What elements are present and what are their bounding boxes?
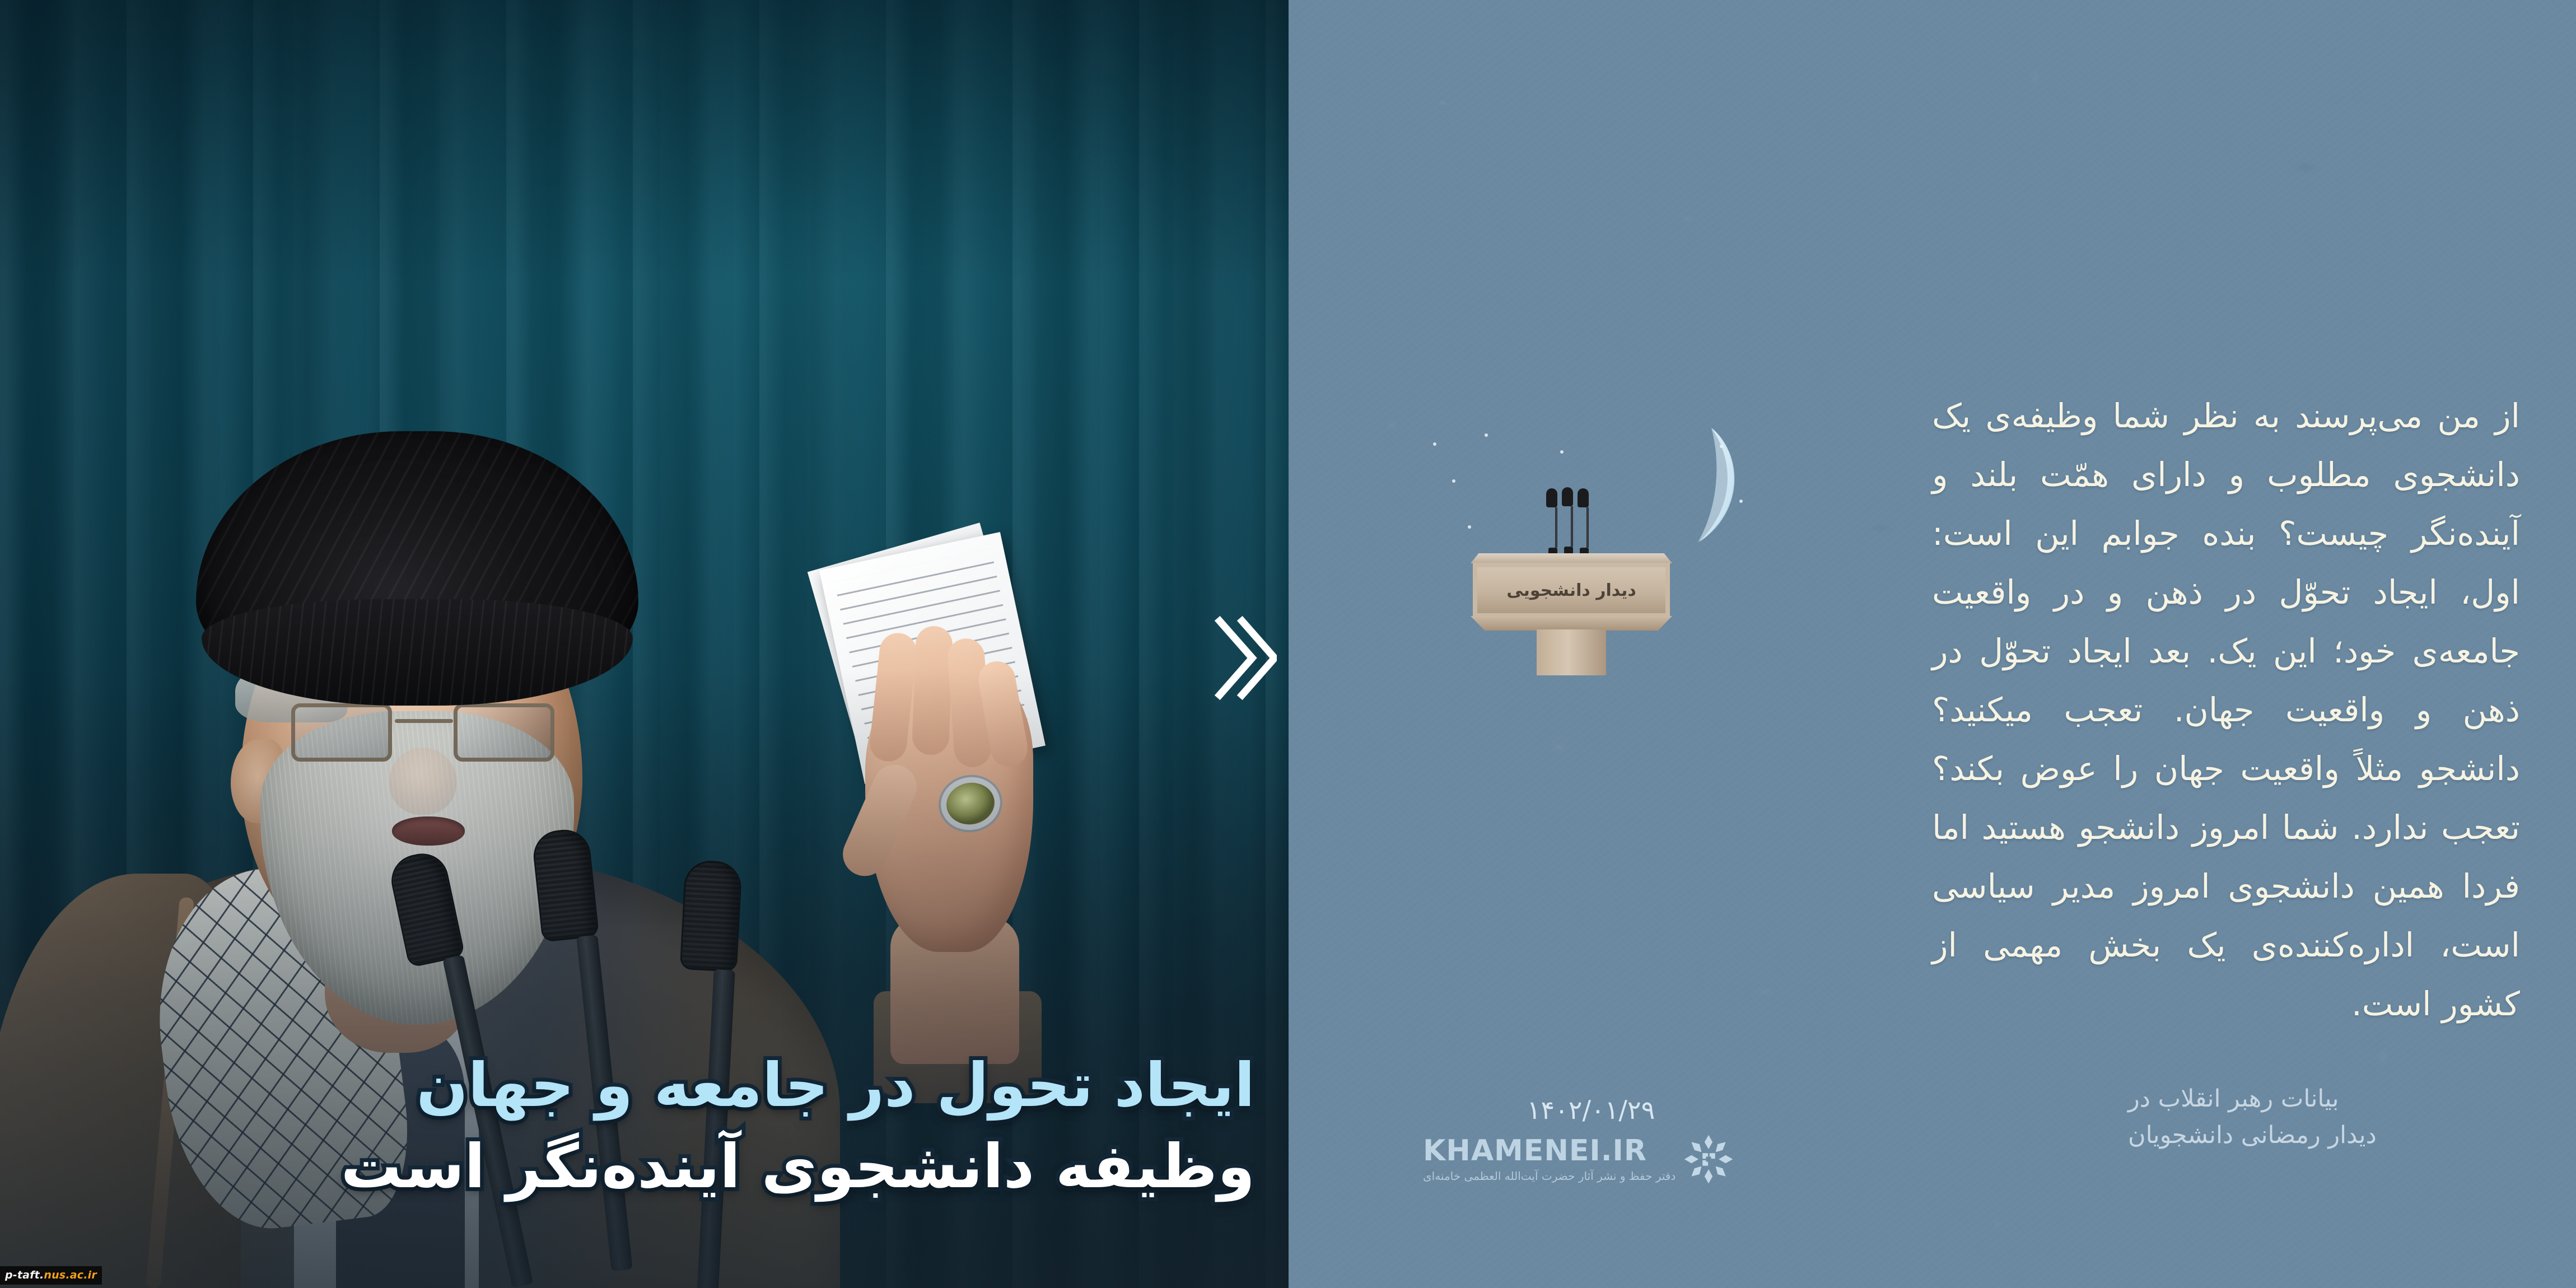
- attribution-line-1: بیانات رهبر انقلاب در: [2128, 1081, 2509, 1117]
- attribution-line-2: دیدار رمضانی دانشجویان: [2128, 1117, 2509, 1154]
- headline: ایجاد تحول در جامعه و جهان وظیفه دانشجوی…: [34, 1049, 1255, 1205]
- microphone-icon: [1583, 488, 1589, 557]
- khamenei-logo[interactable]: KHAMENEI.IR دفتر حفظ و نشر آثار حضرت آیت…: [1423, 1134, 1734, 1184]
- logo-subtitle: دفتر حفظ و نشر آثار حضرت آیت‌الله العظمی…: [1423, 1169, 1676, 1183]
- star-icon: [1720, 445, 1723, 448]
- podium-stem: [1537, 629, 1606, 675]
- podium-label: دیدار دانشجویی: [1506, 581, 1636, 600]
- star-icon: [1485, 433, 1488, 437]
- star-icon: [1452, 479, 1455, 483]
- quote-text: از من می‌پرسند به نظر شما وظیفه‌ی یک دان…: [1932, 386, 2520, 1033]
- podium-face: دیدار دانشجویی: [1473, 563, 1670, 618]
- double-chevron-icon: [1210, 613, 1277, 703]
- podium-icon: دیدار دانشجویی: [1471, 553, 1672, 674]
- event-emblem: دیدار دانشجویی: [1417, 426, 1776, 672]
- quote-panel: از من می‌پرسند به نظر شما وظیفه‌ی یک دان…: [1289, 0, 2576, 1288]
- headline-line-1: ایجاد تحول در جامعه و جهان: [34, 1049, 1255, 1123]
- star-icon: [1468, 525, 1471, 529]
- poster-canvas: ایجاد تحول در جامعه و جهان وظیفه دانشجوی…: [0, 0, 2576, 1288]
- star-icon: [1739, 500, 1743, 503]
- watermark-part-2: nus.ac.ir: [44, 1269, 97, 1281]
- crescent-moon-icon: [1627, 426, 1748, 554]
- microphone-icon: [1552, 488, 1557, 557]
- logo-wordmark: KHAMENEI.IR: [1423, 1136, 1676, 1165]
- headline-line-2: وظیفه دانشجوی آینده‌نگر است: [34, 1130, 1255, 1204]
- photo-panel: ایجاد تحول در جامعه و جهان وظیفه دانشجوی…: [0, 0, 1289, 1288]
- attribution: بیانات رهبر انقلاب در دیدار رمضانی دانشج…: [2128, 1081, 2509, 1154]
- podium-top: [1471, 553, 1672, 563]
- logo-starburst-icon: [1683, 1134, 1734, 1184]
- source-watermark: p-taft.nus.ac.ir: [0, 1266, 102, 1285]
- star-icon: [1433, 442, 1436, 446]
- watermark-part-1: p-taft.: [5, 1269, 44, 1281]
- microphone-icon: [1567, 487, 1573, 556]
- publication-date: ۱۴۰۲/۰۱/۲۹: [1473, 1095, 1709, 1125]
- podium-lip: [1471, 616, 1672, 631]
- star-icon: [1560, 450, 1564, 454]
